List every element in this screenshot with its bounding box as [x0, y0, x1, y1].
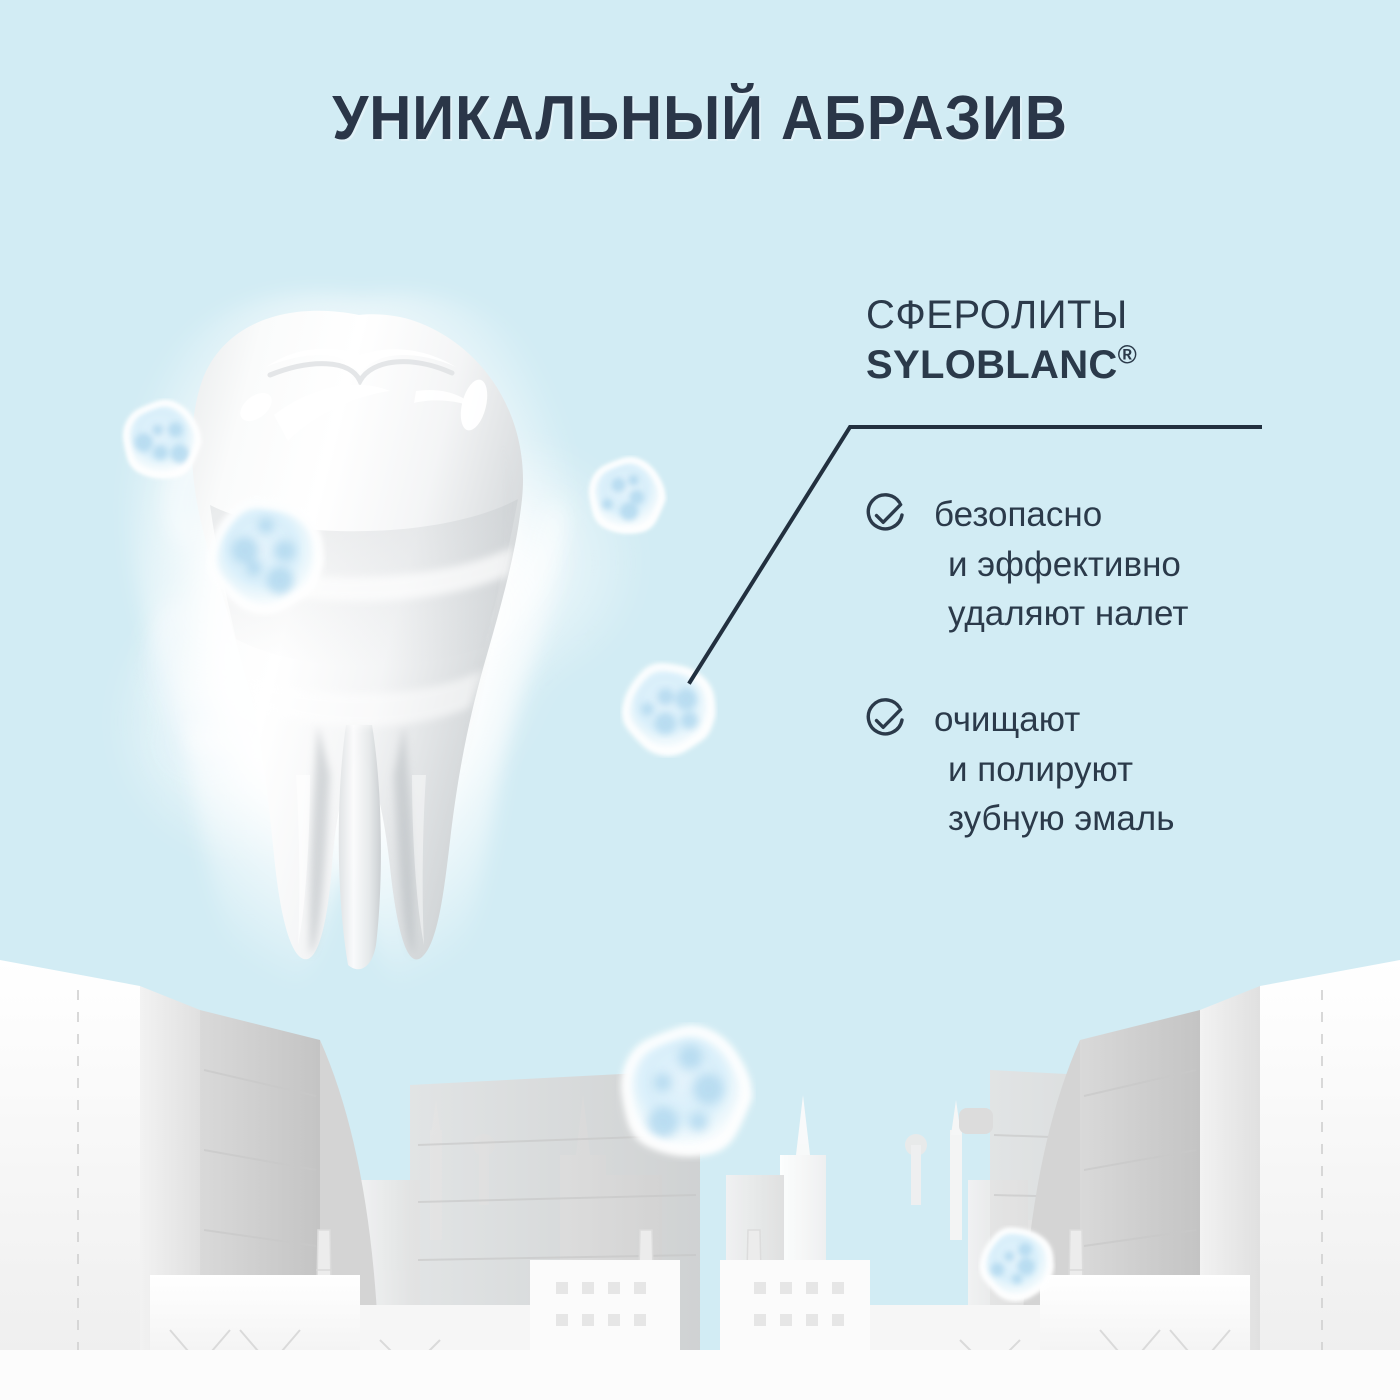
- benefit-line: удаляют налет: [934, 589, 1188, 639]
- page-title: УНИКАЛЬНЫЙ АБРАЗИВ: [42, 88, 1358, 150]
- benefit-item-2: очищаюти полируютзубную эмаль: [862, 695, 1322, 844]
- benefit-line: очищают: [934, 695, 1174, 745]
- bubble-tooth-mid-left: [205, 495, 327, 617]
- molar-tooth-illustration: [60, 255, 680, 1015]
- benefit-text: безопаснои эффективноудаляют налет: [934, 490, 1188, 639]
- callout-kicker: СФЕРОЛИТЫ: [866, 292, 1286, 338]
- benefit-line: и полируют: [934, 745, 1174, 795]
- benefit-text: очищаюти полируютзубную эмаль: [934, 695, 1174, 844]
- benefit-line: безопасно: [934, 490, 1188, 540]
- benefit-line: и эффективно: [934, 540, 1188, 590]
- bubble-tooth-right: [586, 455, 668, 537]
- promo-banner: УНИКАЛЬНЫЙ АБРАЗИВ СФЕРОЛИТЫ SYLOBLANC® …: [0, 0, 1400, 1400]
- callout-brand: SYLOBLANC®: [866, 342, 1286, 388]
- check-circle-icon: [862, 697, 908, 743]
- registered-trademark-icon: ®: [1118, 340, 1137, 370]
- bubble-tooth-upper-left: [120, 398, 204, 482]
- benefit-line: зубную эмаль: [934, 794, 1174, 844]
- bubble-city-right: [978, 1225, 1056, 1303]
- callout-brand-name: SYLOBLANC: [866, 343, 1118, 387]
- bubble-tooth-lower-right: [620, 660, 718, 758]
- callout-heading: СФЕРОЛИТЫ SYLOBLANC®: [866, 292, 1286, 389]
- bubble-city-center: [616, 1022, 756, 1162]
- benefit-item-1: безопаснои эффективноудаляют налет: [862, 490, 1322, 639]
- benefit-list: безопаснои эффективноудаляют налет очища…: [862, 490, 1322, 900]
- check-circle-icon: [862, 492, 908, 538]
